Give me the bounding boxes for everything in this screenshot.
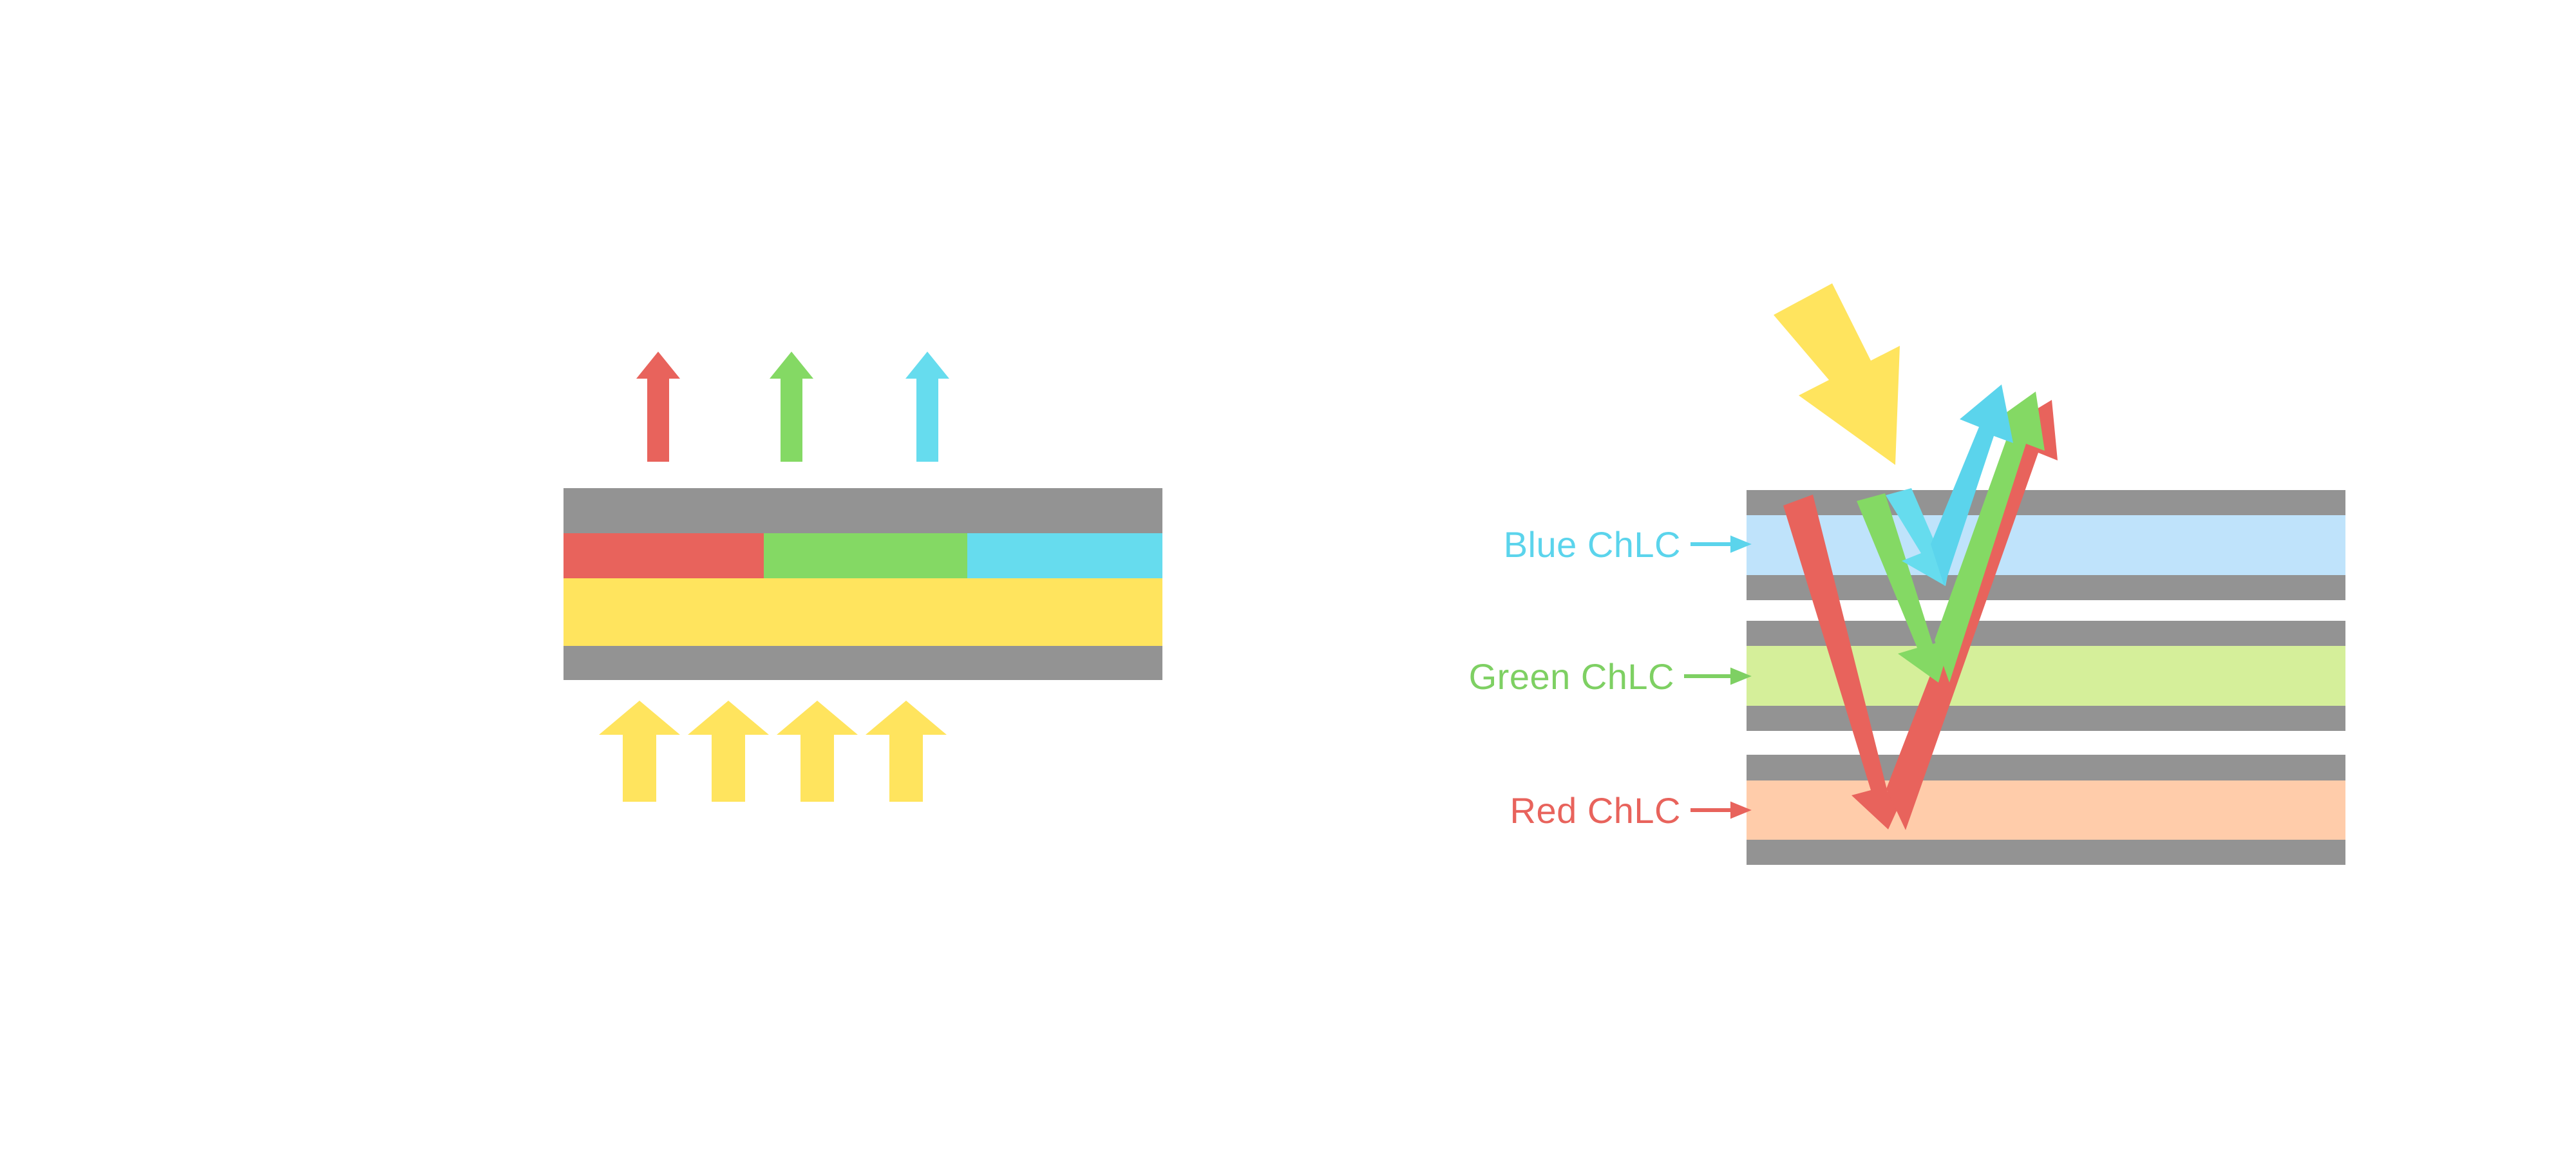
red-chlc-bottom-electrode bbox=[1747, 840, 2345, 865]
blue-chlc-top-electrode bbox=[1747, 490, 2345, 515]
green-label-arrow bbox=[1684, 670, 1747, 682]
red-label-arrow bbox=[1690, 804, 1747, 816]
red-chlc-label: Red ChLC bbox=[1436, 793, 1681, 829]
green-chlc-bottom-electrode bbox=[1747, 706, 2345, 731]
red-chlc-top-electrode bbox=[1747, 755, 2345, 780]
blue-chlc-label: Blue ChLC bbox=[1436, 527, 1681, 563]
blue-label-arrow bbox=[1690, 538, 1747, 550]
right-panel-reflective-stack bbox=[0, 0, 2576, 1154]
red-chlc-layer bbox=[1747, 780, 2345, 840]
ambient-light-arrow bbox=[1774, 283, 1900, 465]
blue-chlc-layer bbox=[1747, 515, 2345, 575]
green-chlc-label: Green ChLC bbox=[1410, 659, 1674, 695]
figure-canvas: Blue ChLC Green ChLC Red ChLC bbox=[0, 0, 2576, 1154]
